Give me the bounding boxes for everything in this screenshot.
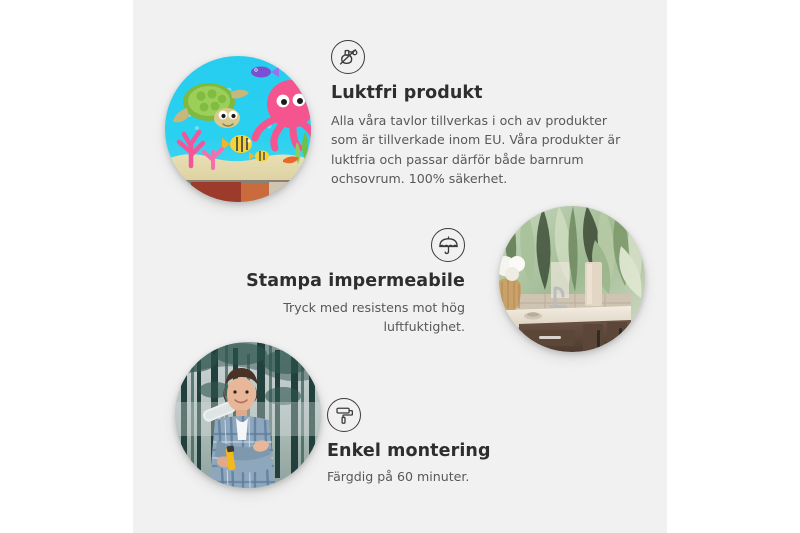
feature-mounting: Enkel montering Färgdig på 60 minuter. <box>327 398 587 486</box>
decorator-forest-wallpaper-photo <box>175 342 321 488</box>
feature-text: Tryck med resistens mot hög luftfuktighe… <box>215 298 465 337</box>
bathroom-botanical-wallpaper-photo <box>499 206 645 352</box>
umbrella-icon <box>431 228 465 262</box>
feature-title: Enkel montering <box>327 441 587 463</box>
feature-title: Stampa impermeabile <box>215 271 465 293</box>
feature-text: Alla våra tavlor tillverkas i och av pro… <box>331 111 631 189</box>
ocean-cartoon-wallpaper-photo <box>165 56 311 202</box>
feature-text: Färgdig på 60 minuter. <box>327 467 587 487</box>
feature-odourless: Luktfri produkt Alla våra tavlor tillver… <box>331 40 631 189</box>
feature-waterproof: Stampa impermeabile Tryck med resistens … <box>215 228 465 337</box>
paint-roller-icon <box>327 398 361 432</box>
feature-title: Luktfri produkt <box>331 83 631 105</box>
promo-banner: Luktfri produkt Alla våra tavlor tillver… <box>0 0 800 533</box>
no-fragrance-spray-icon <box>331 40 365 74</box>
